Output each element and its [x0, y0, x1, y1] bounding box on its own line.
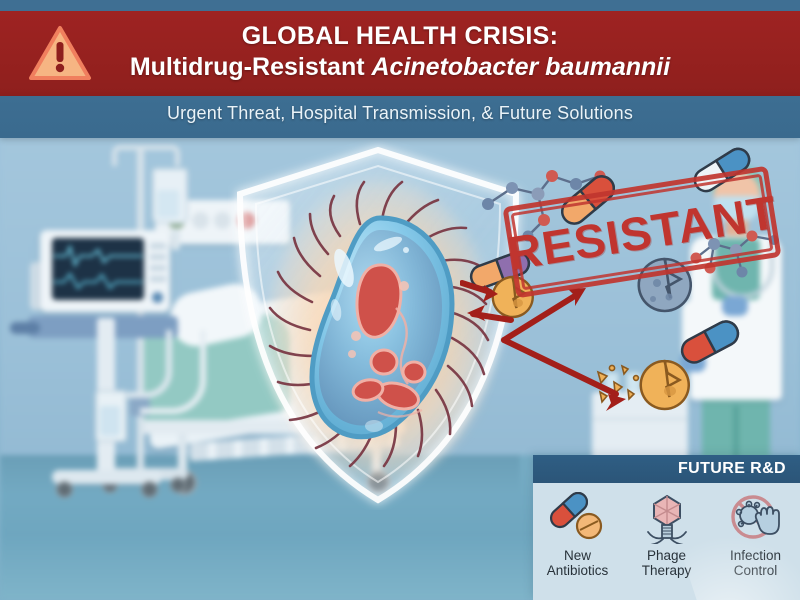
pill-crumbs — [598, 365, 638, 402]
rnd-label-new-antibiotics: New Antibiotics — [547, 548, 609, 578]
ventilator-humidifier-bottle — [95, 390, 127, 442]
rnd-item-phage-therapy[interactable]: Phage Therapy — [622, 483, 711, 600]
rnd-item-new-antibiotics[interactable]: New Antibiotics — [533, 483, 622, 600]
future-rnd-panel: FUTURE R&D New Antibiotics — [533, 455, 800, 600]
rnd-label-line1: New — [547, 548, 609, 563]
ventilator-tube-2 — [120, 330, 172, 398]
bacteriophage-icon — [636, 492, 698, 544]
broken-pill-orange-crumbs — [641, 361, 689, 409]
future-rnd-items: New Antibiotics — [533, 483, 800, 600]
iv-drip-bag — [152, 168, 188, 224]
future-rnd-header: FUTURE R&D — [533, 455, 800, 483]
resistance-arrow-3 — [504, 340, 616, 394]
rnd-label-phage-therapy: Phage Therapy — [642, 548, 692, 578]
rnd-label-infection-control: Infection Control — [730, 548, 781, 578]
rnd-label-line2: Control — [730, 563, 781, 578]
rnd-label-line1: Infection — [730, 548, 781, 563]
rnd-label-line1: Phage — [642, 548, 692, 563]
resistance-arrow-inward — [455, 290, 515, 340]
iv-pole-hook — [112, 145, 180, 166]
capsule-red-blue — [678, 317, 742, 366]
page-title-line2: Multidrug-Resistant Acinetobacter bauman… — [0, 53, 800, 82]
ventilator-blue-arm — [10, 322, 40, 334]
rnd-label-line2: Antibiotics — [547, 563, 609, 578]
pills-icon — [547, 492, 609, 544]
page-title-species-name: Acinetobacter baumannii — [372, 53, 671, 81]
page-title-line1: GLOBAL HEALTH CRISIS: — [0, 22, 800, 51]
page-subtitle: Urgent Threat, Hospital Transmission, & … — [0, 103, 800, 124]
monitor-knob — [152, 292, 163, 303]
infographic-poster: GLOBAL HEALTH CRISIS: Multidrug-Resistan… — [0, 0, 800, 600]
wall-outlet-stem — [171, 228, 180, 250]
wall-outlet-white-1 — [192, 212, 209, 229]
no-germs-hand-icon — [725, 492, 787, 544]
future-rnd-heading: FUTURE R&D — [678, 460, 786, 478]
monitor-buttons — [150, 243, 166, 283]
ecg-waveform-icon — [52, 238, 144, 300]
rnd-label-line2: Therapy — [642, 563, 692, 578]
page-title-line2-prefix: Multidrug-Resistant — [130, 53, 372, 81]
monitor-screen — [52, 238, 144, 300]
rnd-item-infection-control[interactable]: Infection Control — [711, 483, 800, 600]
ventilator-base — [52, 470, 162, 484]
